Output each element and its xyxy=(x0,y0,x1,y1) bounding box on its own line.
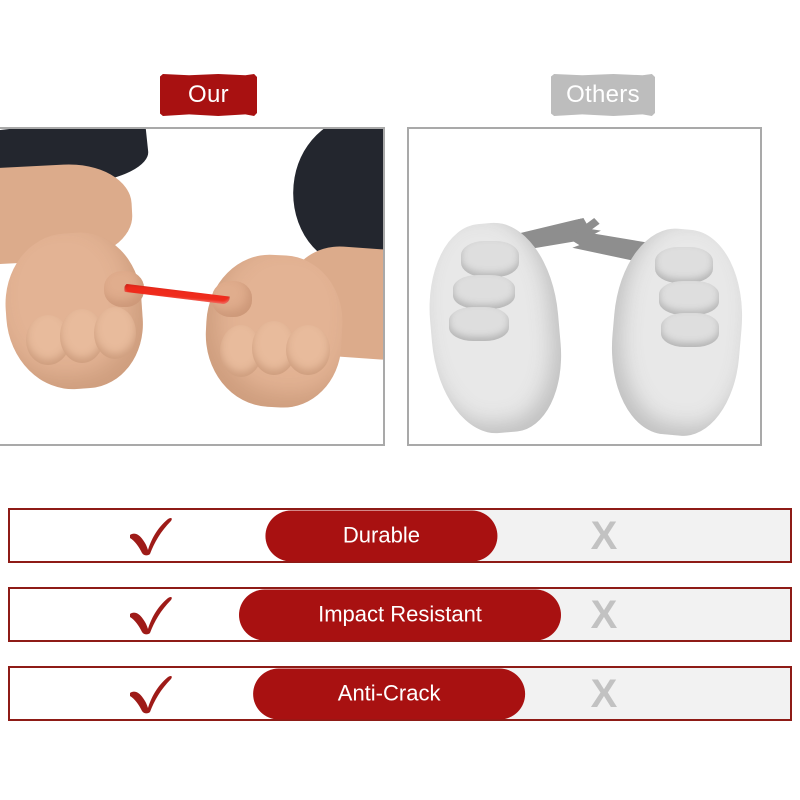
ours-banner: Our xyxy=(160,74,257,116)
finger-icon xyxy=(655,247,713,283)
comparison-table: X Durable X Impact Resistant X Ant xyxy=(8,508,792,745)
our-product-bend-photo xyxy=(0,127,385,446)
photo-canvas-left xyxy=(0,129,383,444)
others-banner: Others xyxy=(551,74,655,116)
check-icon xyxy=(128,674,174,714)
check-icon xyxy=(128,595,174,635)
knuckle-icon xyxy=(94,307,136,359)
feature-label-pill: Durable xyxy=(265,510,497,561)
feature-label: Impact Resistant xyxy=(318,602,482,628)
cross-icon: X xyxy=(591,516,618,556)
finger-icon xyxy=(453,275,515,309)
check-icon xyxy=(128,516,174,556)
header-banners: Our Others xyxy=(0,0,800,127)
others-banner-label: Others xyxy=(566,81,640,109)
finger-icon xyxy=(449,307,509,341)
finger-icon xyxy=(461,241,519,277)
feature-label: Anti-Crack xyxy=(338,681,441,707)
feature-label-pill: Anti-Crack xyxy=(253,668,525,719)
photo-canvas-right xyxy=(409,129,760,444)
ours-banner-label: Our xyxy=(188,81,229,109)
cross-icon: X xyxy=(591,674,618,714)
table-row: X Durable xyxy=(8,508,792,563)
table-row: X Impact Resistant xyxy=(8,587,792,642)
table-row: X Anti-Crack xyxy=(8,666,792,721)
finger-icon xyxy=(661,313,719,347)
cross-icon: X xyxy=(591,595,618,635)
feature-label: Durable xyxy=(343,523,420,549)
knuckle-icon xyxy=(286,325,330,375)
others-product-broken-photo xyxy=(407,127,762,446)
feature-label-pill: Impact Resistant xyxy=(239,589,561,640)
finger-icon xyxy=(659,281,719,315)
